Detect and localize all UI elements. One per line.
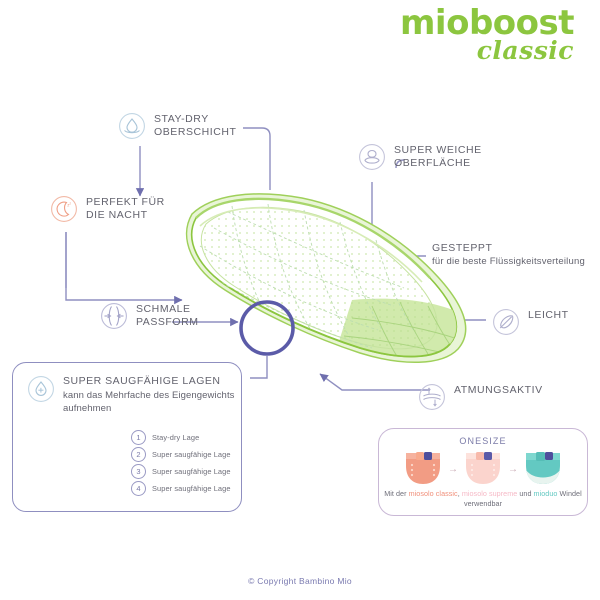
panel-header: SUPER SAUGFÄHIGE LAGEN kann das Mehrfach…	[27, 375, 235, 415]
layer-label: Super saugfähige Lage	[152, 484, 231, 493]
feature-subtitle: für die beste Flüssigkeitsverteilung	[432, 255, 585, 268]
compatible-diapers: → →	[379, 449, 587, 491]
brand-miosolo-supreme: miosolo supreme	[462, 489, 517, 498]
airflow-icon	[418, 383, 446, 411]
svg-text:z: z	[69, 201, 71, 205]
layer-label: Super saugfähige Lage	[152, 450, 231, 459]
diaper-mioduo	[521, 448, 565, 493]
layer-item: 3 Super saugfähige Lage	[131, 463, 231, 480]
feature-title: SUPER WEICHE	[394, 144, 482, 157]
logo-wordmark: mioboost	[400, 6, 574, 40]
layer-number: 1	[131, 430, 146, 445]
layer-item: 2 Super saugfähige Lage	[131, 446, 231, 463]
layer-item: 1 Stay-dry Lage	[131, 429, 231, 446]
brand-mioduo: mioduo	[534, 489, 558, 498]
feature-title: SCHMALE	[136, 303, 199, 316]
onesize-caption: Mit der miosolo classic, miosolo supreme…	[383, 489, 583, 509]
layer-number: 3	[131, 464, 146, 479]
brand-miosolo-classic: miosolo classic	[409, 489, 458, 498]
layer-item: 4 Super saugfähige Lage	[131, 480, 231, 497]
panel-title: SUPER SAUGFÄHIGE LAGEN	[63, 375, 235, 389]
narrow-fit-arrows-icon	[100, 302, 128, 330]
feature-title: GESTEPPT	[432, 242, 585, 255]
layer-label: Super saugfähige Lage	[152, 467, 231, 476]
caption-sep2: und	[517, 489, 533, 498]
diaper-miosolo-classic	[401, 448, 445, 493]
water-drop-icon	[118, 112, 146, 140]
feature-title: ATMUNGSAKTIV	[454, 384, 543, 397]
arrow-icon: →	[448, 465, 458, 475]
absorbent-drop-icon	[27, 375, 55, 403]
onesize-title: ONESIZE	[379, 436, 587, 446]
feature-stay-dry: STAY-DRY OBERSCHICHT	[118, 112, 236, 140]
layer-number: 4	[131, 481, 146, 496]
feature-narrow-fit: SCHMALE PASSFORM	[100, 302, 199, 330]
feature-soft-surface: SUPER WEICHE OBERFLÄCHE	[358, 143, 482, 171]
moon-sleep-icon: z z	[50, 195, 78, 223]
brand-logo: mioboost classic	[400, 6, 574, 63]
feature-title-line2: OBERFLÄCHE	[394, 157, 482, 170]
panel-subtitle-line2: aufnehmen	[63, 402, 235, 415]
feature-night: z z PERFEKT FÜR DIE NACHT	[50, 195, 165, 223]
feather-icon	[492, 308, 520, 336]
feature-quilted: GESTEPPT für die beste Flüssigkeitsverte…	[432, 241, 585, 268]
feature-title-line2: DIE NACHT	[86, 209, 165, 222]
feature-title: STAY-DRY	[154, 113, 236, 126]
copyright-notice: © Copyright Bambino Mio	[0, 576, 600, 586]
feature-title: PERFEKT FÜR	[86, 196, 165, 209]
cotton-cloud-icon	[358, 143, 386, 171]
feature-breathable: ATMUNGSAKTIV	[418, 383, 543, 411]
onesize-panel: ONESIZE →	[378, 428, 588, 516]
layers-legend: 1 Stay-dry Lage 2 Super saugfähige Lage …	[131, 429, 231, 497]
infographic-canvas: mioboost classic STAY-DRY OBERSCHICHT z …	[0, 0, 600, 600]
layer-label: Stay-dry Lage	[152, 433, 199, 442]
feature-light: LEICHT	[492, 308, 569, 336]
feature-title-line2: OBERSCHICHT	[154, 126, 236, 139]
caption-prefix: Mit der	[384, 489, 408, 498]
panel-subtitle-line1: kann das Mehrfache des Eigengewichts	[63, 389, 235, 402]
feature-title: LEICHT	[528, 309, 569, 322]
feature-title-line2: PASSFORM	[136, 316, 199, 329]
absorbent-layers-panel: SUPER SAUGFÄHIGE LAGEN kann das Mehrfach…	[12, 362, 242, 512]
diaper-miosolo-supreme	[461, 448, 505, 493]
arrow-icon: →	[508, 465, 518, 475]
layer-number: 2	[131, 447, 146, 462]
